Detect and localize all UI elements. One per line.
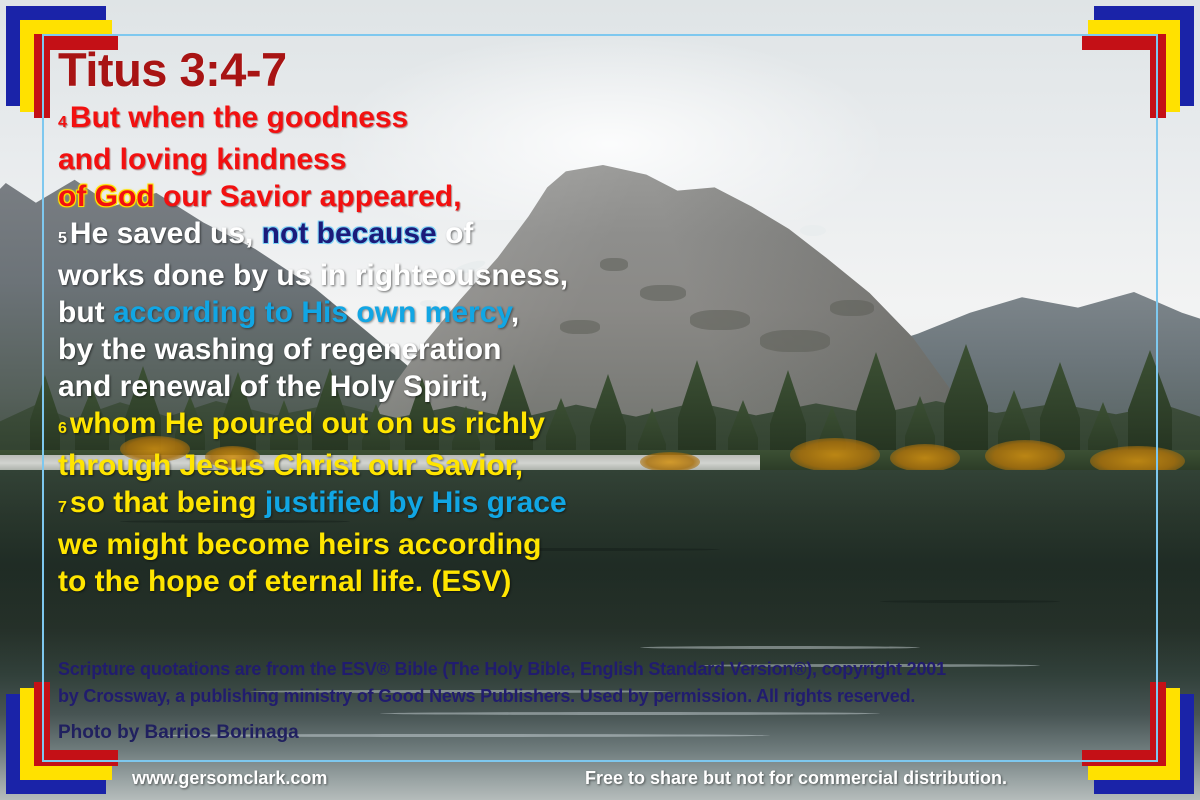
verse-text-segment: and loving kindness [58, 143, 346, 176]
verse-line: but according to His own mercy, [58, 294, 1148, 331]
water-ripple [880, 600, 1060, 603]
verse-text-segment: of God [58, 180, 155, 213]
verse-text-segment: so that being [70, 486, 265, 519]
verse-number: 4 [58, 114, 70, 131]
bracket-red-vertical [1150, 682, 1166, 766]
verse-line: works done by us in righteousness, [58, 257, 1148, 294]
bracket-red-vertical [34, 682, 50, 766]
water-ripple [640, 646, 920, 649]
footer-website-link[interactable]: www.gersomclark.com [132, 768, 327, 789]
verse-text-segment: works done by us in righteousness, [58, 259, 568, 292]
verse-number: 6 [58, 420, 70, 437]
bracket-yellow-vertical [1164, 688, 1180, 780]
verse-line: 6whom He poured out on us richly [58, 405, 1148, 447]
bracket-blue-vertical [1178, 694, 1194, 794]
verse-text-segment: but [58, 296, 113, 329]
verse-text-segment: of [437, 217, 474, 250]
verse-list: 4But when the goodnessand loving kindnes… [58, 99, 1148, 600]
verse-text-segment: But when the goodness [70, 101, 408, 134]
water-ripple [380, 712, 880, 715]
verse-line: to the hope of eternal life. (ESV) [58, 563, 1148, 600]
bracket-blue-vertical [1178, 6, 1194, 106]
verse-number: 5 [58, 230, 70, 247]
bracket-yellow-vertical [1164, 20, 1180, 112]
verse-line: by the washing of regeneration [58, 331, 1148, 368]
verse-line: of God our Savior appeared, [58, 178, 1148, 215]
verse-text-segment: and renewal of the Holy Spirit, [58, 370, 488, 403]
verse-line: 5He saved us, not because of [58, 215, 1148, 257]
verse-text-segment: , [511, 296, 519, 329]
verse-line: through Jesus Christ our Savior, [58, 447, 1148, 484]
verse-line: and loving kindness [58, 141, 1148, 178]
verse-line: we might become heirs according [58, 526, 1148, 563]
verse-text-segment: through Jesus Christ our Savior, [58, 449, 523, 482]
verse-number: 7 [58, 499, 70, 516]
verse-text-segment: we might become heirs according [58, 528, 541, 561]
verse-text-segment: our Savior appeared, [155, 180, 462, 213]
verse-line: and renewal of the Holy Spirit, [58, 368, 1148, 405]
footer-usage-note: Free to share but not for commercial dis… [585, 768, 1007, 789]
esv-copyright-line-1: Scripture quotations are from the ESV® B… [58, 656, 1098, 683]
verse-text-segment: He saved us, [70, 217, 262, 250]
verse-line: 4But when the goodness [58, 99, 1148, 141]
photo-credit: Photo by Barrios Borinaga [58, 722, 299, 744]
verse-line: 7so that being justified by His grace [58, 484, 1148, 526]
verse-text-segment: according to His own mercy [113, 296, 511, 329]
verse-text-segment: justified by His grace [265, 486, 567, 519]
verse-text-segment: to the hope of eternal life. (ESV) [58, 565, 511, 598]
bracket-red-vertical [1150, 34, 1166, 118]
bracket-red-vertical [34, 34, 50, 118]
verse-text-segment: by the washing of regeneration [58, 333, 501, 366]
verse-text-segment: not because [262, 217, 437, 250]
scripture-text-block: Titus 3:4-7 4But when the goodnessand lo… [58, 46, 1148, 600]
esv-copyright-notice: Scripture quotations are from the ESV® B… [58, 656, 1098, 710]
verse-text-segment: whom He poured out on us richly [70, 407, 545, 440]
page-title: Titus 3:4-7 [58, 46, 1148, 93]
scripture-poster: Titus 3:4-7 4But when the goodnessand lo… [0, 0, 1200, 800]
esv-copyright-line-2: by Crossway, a publishing ministry of Go… [58, 683, 1098, 710]
